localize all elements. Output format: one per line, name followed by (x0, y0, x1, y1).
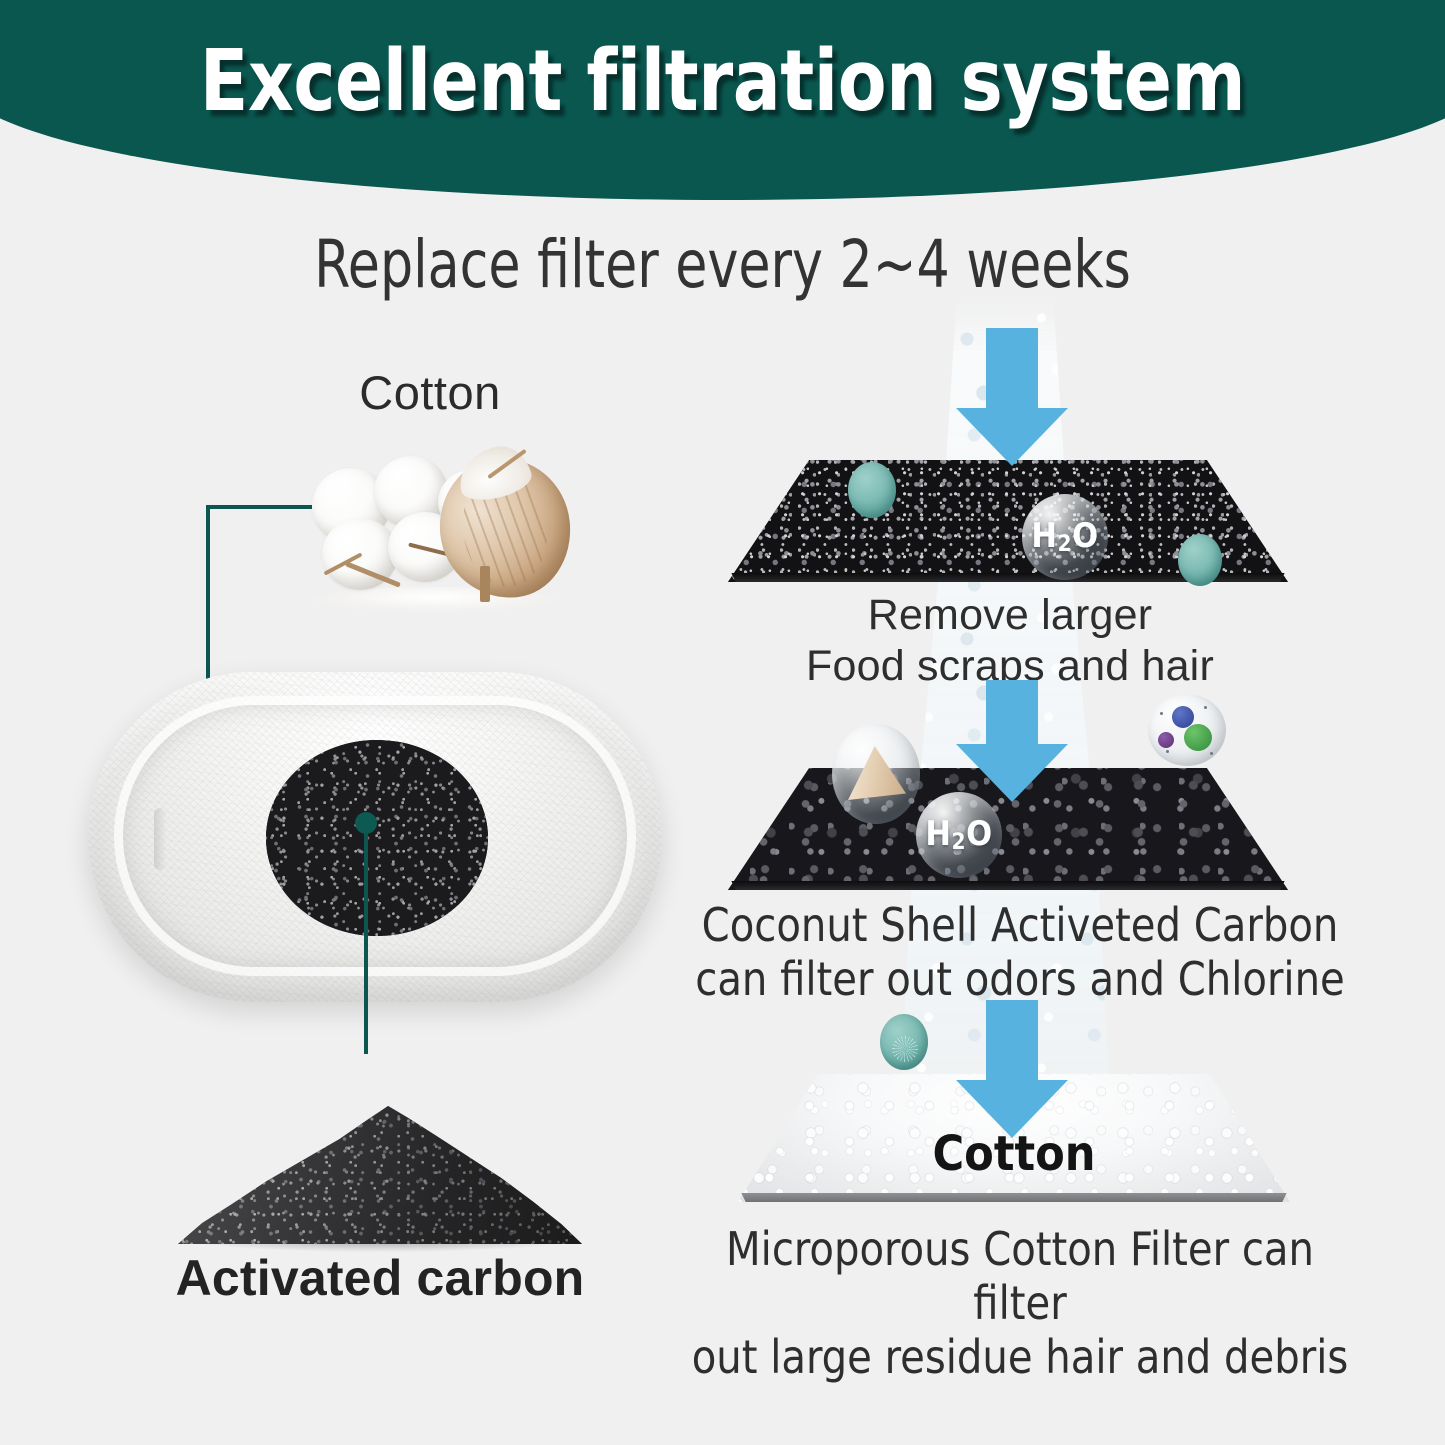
flow-arrow-down-icon (956, 328, 1068, 464)
germ-bubble-icon (1148, 694, 1226, 766)
activated-carbon-core (266, 740, 488, 936)
carbon-granule-texture (266, 740, 488, 936)
cotton-stem (480, 566, 490, 602)
subtitle: Replace filter every 2~4 weeks (87, 226, 1359, 304)
caption-line: Remove larger (730, 590, 1290, 641)
page-title: Excellent filtration system (51, 34, 1395, 130)
arrow-head (956, 408, 1068, 466)
cotton-slab-edge (738, 1193, 1290, 1202)
carbon-pile-mound (178, 1094, 582, 1244)
food-scrap-bubble-icon (832, 724, 920, 824)
header-banner: Excellent filtration system (0, 0, 1445, 205)
coconut-carbon-slab-edge (728, 881, 1288, 890)
h2o-bubble-label: H2O (925, 814, 992, 855)
layer-3-caption: Microporous Cotton Filter can filter out… (677, 1222, 1364, 1384)
caption-line: can filter out odors and Chlorine (694, 952, 1346, 1006)
h2o-bubble-label: H2O (1031, 516, 1098, 557)
flow-arrow-down-icon (956, 680, 1068, 800)
arrow-shaft (986, 328, 1038, 410)
caption-line: Coconut Shell Activeted Carbon (694, 898, 1346, 952)
caption-line: out large residue hair and debris (677, 1330, 1364, 1384)
filter-pad-notch (154, 808, 166, 870)
h2o-bubble-icon: H2O (916, 792, 1002, 878)
germ-speck (1210, 752, 1213, 755)
debris-particle-blob (880, 1014, 928, 1070)
germ-speck (1204, 706, 1207, 709)
cotton-boll-photo (288, 440, 578, 615)
flow-arrow-down-icon (956, 1000, 1068, 1136)
carbon-leader-vertical (364, 822, 368, 1054)
infographic-page: Excellent filtration system Replace filt… (0, 0, 1445, 1445)
germ-speck (1166, 750, 1169, 753)
carbon-leader-dot (355, 812, 377, 834)
arrow-shaft (986, 1000, 1038, 1082)
germ-purple (1158, 732, 1174, 748)
cotton-label: Cotton (250, 365, 610, 421)
layer-1-caption: Remove larger Food scraps and hair (730, 590, 1290, 692)
cotton-leader-horizontal (208, 505, 312, 509)
carbon-pile-shading (178, 1094, 582, 1244)
food-scrap-shape (848, 746, 906, 800)
arrow-shaft (986, 680, 1038, 746)
germ-speck (1160, 712, 1163, 715)
h2o-bubble-icon: H2O (1022, 494, 1108, 580)
debris-particle-blob (1178, 534, 1222, 586)
debris-particle-blob (848, 462, 896, 518)
germ-green (1184, 724, 1212, 751)
caption-line: Microporous Cotton Filter can filter (677, 1222, 1364, 1330)
layer-2-caption: Coconut Shell Activeted Carbon can filte… (694, 898, 1346, 1006)
cotton-layer-overlay-label: Cotton (738, 1126, 1290, 1182)
activated-carbon-label: Activated carbon (120, 1248, 640, 1308)
activated-carbon-pile-photo (178, 1092, 582, 1244)
